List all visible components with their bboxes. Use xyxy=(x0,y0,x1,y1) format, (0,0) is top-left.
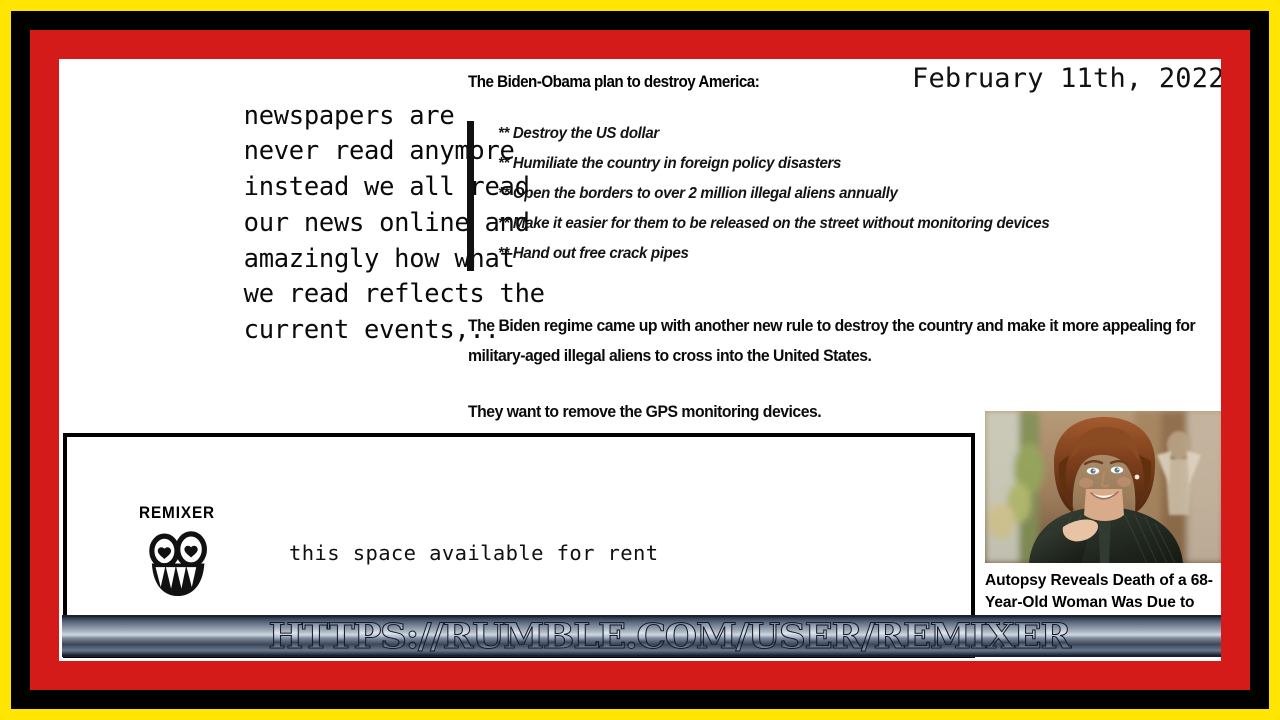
poster-frame-black: newspapers are never read anymore instea… xyxy=(11,11,1269,709)
bullet-item: ** Open the borders to over 2 million il… xyxy=(498,179,1211,209)
poster-frame-yellow: newspapers are never read anymore instea… xyxy=(0,0,1280,720)
rumble-url-banner[interactable]: HTTPS://RUMBLE.COM/USER/REMIXER xyxy=(62,615,1221,657)
woman-portrait-photo xyxy=(985,411,1221,563)
monster-face-icon xyxy=(140,525,214,599)
bullet-list: ** Destroy the US dollar ** Humiliate th… xyxy=(498,119,1221,269)
intro-line-1: newspapers are xyxy=(244,101,455,131)
rent-message: this space available for rent xyxy=(289,541,659,565)
intro-line-6: we read reflects the xyxy=(244,279,545,309)
bullet-item: ** Destroy the US dollar xyxy=(498,119,1211,149)
portrait-illustration xyxy=(985,411,1221,563)
poster-frame-red: newspapers are never read anymore instea… xyxy=(30,30,1250,690)
vertical-rule xyxy=(467,121,474,271)
bullet-item: ** Hand out free crack pipes xyxy=(498,239,1211,269)
bullet-item: ** Make it easier for them to be release… xyxy=(498,209,1211,239)
date-stamp: February 11th, 2022 xyxy=(912,63,1221,94)
poster-canvas: newspapers are never read anymore instea… xyxy=(59,59,1221,661)
rumble-url-text: HTTPS://RUMBLE.COM/USER/REMIXER xyxy=(269,616,1071,657)
remixer-logo: REMIXER xyxy=(127,503,227,599)
remixer-logo-label: REMIXER xyxy=(132,503,222,523)
paragraph-one: The Biden regime came up with another ne… xyxy=(468,312,1221,371)
bullet-item: ** Humiliate the country in foreign poli… xyxy=(498,149,1211,179)
intro-paragraph: newspapers are never read anymore instea… xyxy=(63,63,468,384)
page-title: The Biden-Obama plan to destroy America: xyxy=(468,73,759,92)
bullet-block: ** Destroy the US dollar ** Humiliate th… xyxy=(467,119,1221,269)
intro-line-7: current events,.. xyxy=(244,315,500,345)
